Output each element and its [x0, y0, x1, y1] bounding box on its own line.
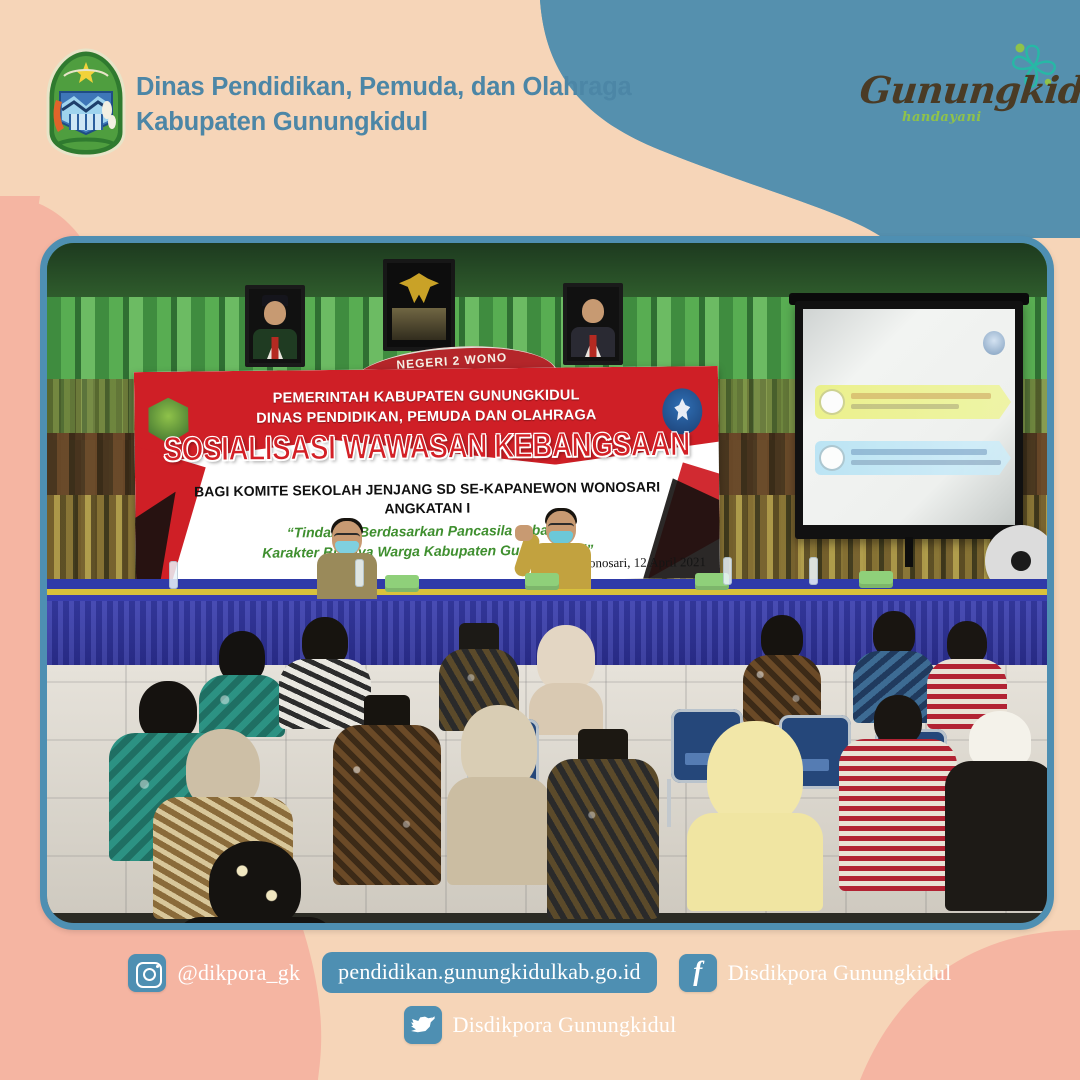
banner-date: Wonosari, 12 April 2021	[578, 554, 706, 571]
slide-logo-icon	[983, 331, 1005, 355]
event-photo-card: NEGERI 2 WONO	[40, 236, 1054, 930]
facebook-page: Disdikpora Gunungkidul	[728, 960, 952, 986]
poster-canvas: Dinas Pendidikan, Pemuda, dan Olahraga K…	[0, 0, 1080, 1080]
poster-header: Dinas Pendidikan, Pemuda, dan Olahraga K…	[0, 0, 1080, 200]
banner-line-4: ANGKATAN I	[135, 497, 719, 519]
table-tissue-box	[385, 575, 419, 592]
banner-quote-line-1: “Tindakan Berdasarkan Pancasila sebagai	[136, 520, 720, 542]
water-bottle	[809, 557, 818, 585]
table-tissue-box	[859, 571, 893, 588]
water-bottle	[355, 559, 364, 587]
photo-ceiling-shadow	[47, 243, 1047, 297]
social-twitter[interactable]: Disdikpora Gunungkidul	[404, 1006, 677, 1044]
projector-slide	[803, 309, 1015, 525]
instagram-handle: @dikpora_gk	[177, 960, 300, 986]
social-row-primary: @dikpora_gk pendidikan.gunungkidulkab.go…	[0, 952, 1080, 993]
banner-title: SOSIALISASI WAWASAN KEBANGSAAN	[135, 424, 719, 469]
vice-president-portrait-icon	[563, 283, 623, 365]
audience-person	[547, 729, 659, 919]
social-row-secondary: Disdikpora Gunungkidul	[0, 1006, 1080, 1044]
gunungkidul-regency-crest-icon	[44, 48, 128, 158]
event-banner: PEMERINTAH KABUPATEN GUNUNGKIDUL DINAS P…	[134, 366, 720, 584]
twitter-icon[interactable]	[404, 1006, 442, 1044]
org-title-line-2: Kabupaten Gunungkidul	[136, 105, 756, 140]
website-url: pendidikan.gunungkidulkab.go.id	[338, 959, 641, 985]
poster-footer: @dikpora_gk pendidikan.gunungkidulkab.go…	[0, 940, 1080, 1080]
website-pill[interactable]: pendidikan.gunungkidulkab.go.id	[322, 952, 657, 993]
banner-line-3: BAGI KOMITE SEKOLAH JENJANG SD SE-KAPANE…	[135, 478, 719, 500]
audience-person	[839, 695, 957, 891]
page-title: Dinas Pendidikan, Pemuda, dan Olahraga K…	[136, 70, 756, 140]
president-portrait-icon	[245, 285, 305, 367]
speaker-left	[315, 521, 379, 599]
projector-screen-icon	[795, 301, 1023, 539]
gunungkidul-brand-logo: Gunungkidul handayani	[846, 38, 1062, 138]
garuda-pancasila-emblem-icon	[383, 259, 455, 351]
facebook-icon[interactable]: f	[679, 954, 717, 992]
social-instagram[interactable]: @dikpora_gk	[128, 954, 300, 992]
brand-wordmark: Gunungkidul	[858, 68, 1080, 112]
audience-person	[175, 841, 335, 923]
event-photo: NEGERI 2 WONO	[47, 243, 1047, 923]
slide-row-2	[815, 441, 1011, 475]
social-facebook[interactable]: f Disdikpora Gunungkidul	[679, 954, 952, 992]
slide-row-1	[815, 385, 1011, 419]
audience-person	[447, 705, 551, 885]
water-bottle	[723, 557, 732, 585]
brand-tagline: handayani	[902, 110, 982, 125]
audience-person	[687, 721, 823, 911]
org-title-line-1: Dinas Pendidikan, Pemuda, dan Olahraga	[136, 70, 756, 105]
table-tissue-box	[525, 573, 559, 590]
water-bottle	[169, 561, 178, 589]
audience-person	[333, 695, 441, 885]
instagram-icon[interactable]	[128, 954, 166, 992]
audience-person	[945, 711, 1047, 911]
audience-person	[743, 615, 821, 725]
twitter-handle: Disdikpora Gunungkidul	[453, 1012, 677, 1038]
